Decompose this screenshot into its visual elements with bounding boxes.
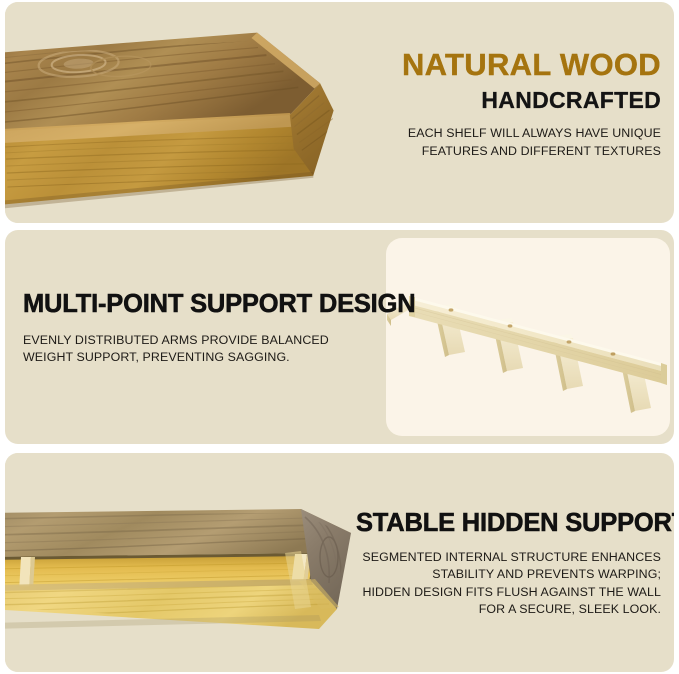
panel-natural-wood: NATURAL WOOD HANDCRAFTED EACH SHELF WILL… xyxy=(5,2,674,223)
title-natural-wood: NATURAL WOOD xyxy=(361,49,661,80)
panel-3-body-line-4: FOR A SECURE, SLEEK LOOK. xyxy=(356,601,661,619)
panel-1-body-line-2: FEATURES AND DIFFERENT TEXTURES xyxy=(361,143,661,161)
panel-1-body: EACH SHELF WILL ALWAYS HAVE UNIQUE FEATU… xyxy=(361,125,661,160)
panel-2-body: EVENLY DISTRIBUTED ARMS PROVIDE BALANCED… xyxy=(23,332,373,367)
panel-3-body-line-2: STABILITY AND PREVENTS WARPING; xyxy=(356,566,661,584)
panel-1-text-block: NATURAL WOOD HANDCRAFTED EACH SHELF WILL… xyxy=(361,49,661,160)
panel-2-body-line-1: EVENLY DISTRIBUTED ARMS PROVIDE BALANCED xyxy=(23,332,373,350)
panel-multi-point-support: MULTI-POINT SUPPORT DESIGN EVENLY DISTRI… xyxy=(5,230,674,444)
panel-3-text-block: STABLE HIDDEN SUPPORT SEGMENTED INTERNAL… xyxy=(356,511,661,619)
heading-multi-point-support: MULTI-POINT SUPPORT DESIGN xyxy=(23,292,373,318)
panel-stable-hidden-support: STABLE HIDDEN SUPPORT SEGMENTED INTERNAL… xyxy=(5,453,674,672)
panel-3-body: SEGMENTED INTERNAL STRUCTURE ENHANCES ST… xyxy=(356,549,661,619)
support-bracket-rail-diagram xyxy=(381,238,673,436)
panel-1-body-line-1: EACH SHELF WILL ALWAYS HAVE UNIQUE xyxy=(361,125,661,143)
panel-3-body-line-1: SEGMENTED INTERNAL STRUCTURE ENHANCES xyxy=(356,549,661,567)
hollow-shelf-cutaway-photo xyxy=(5,453,389,672)
subtitle-handcrafted: HANDCRAFTED xyxy=(361,89,661,112)
panel-2-text-block: MULTI-POINT SUPPORT DESIGN EVENLY DISTRI… xyxy=(23,292,373,367)
panel-2-body-line-2: WEIGHT SUPPORT, PREVENTING SAGGING. xyxy=(23,349,373,367)
heading-stable-hidden-support: STABLE HIDDEN SUPPORT xyxy=(356,511,661,537)
panel-3-body-line-3: HIDDEN DESIGN FITS FLUSH AGAINST THE WAL… xyxy=(356,584,661,602)
solid-wood-board-photo xyxy=(5,2,391,223)
product-infographic: NATURAL WOOD HANDCRAFTED EACH SHELF WILL… xyxy=(0,0,679,674)
